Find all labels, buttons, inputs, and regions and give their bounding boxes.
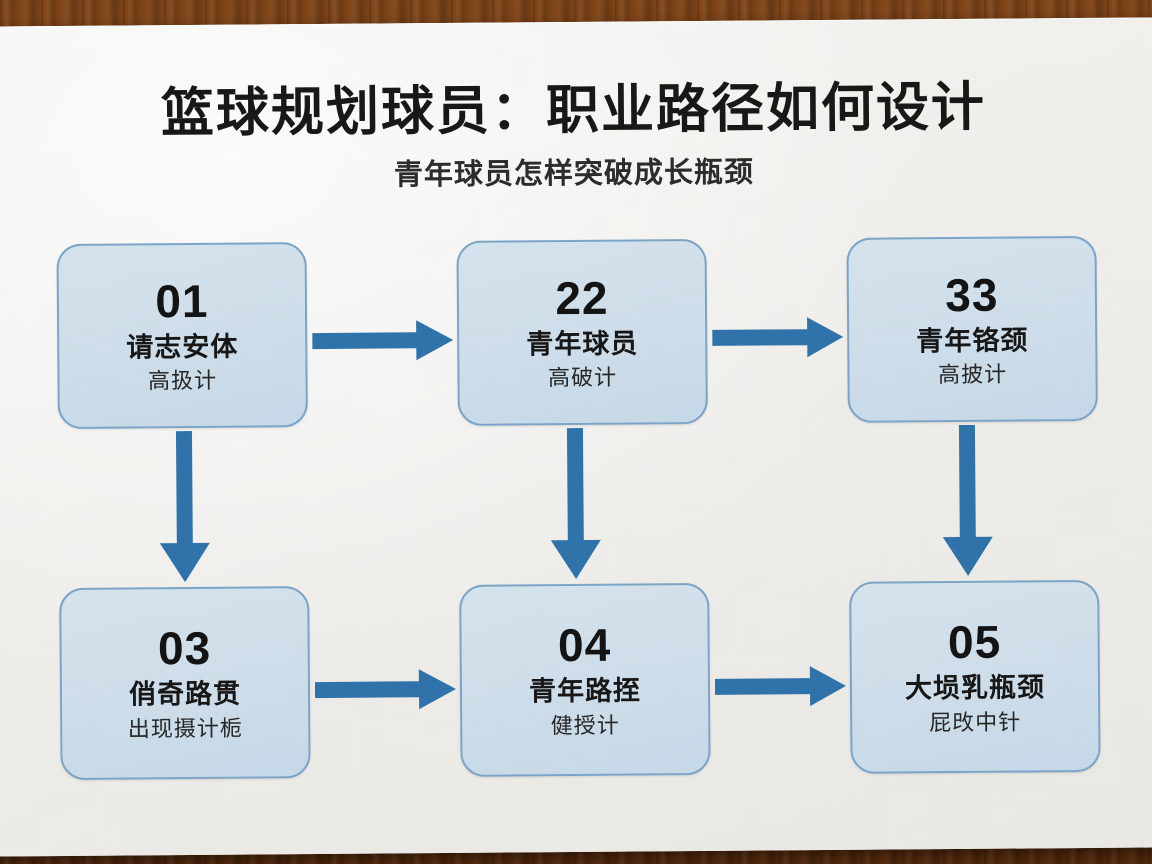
flow-node-sublabel: 高扱计	[148, 369, 217, 394]
flow-node-22[interactable]: 22 青年球员 高破计	[456, 239, 707, 426]
flow-node-05[interactable]: 05 大埙乳瓶颈 屁攺中针	[849, 580, 1101, 774]
flow-node-sublabel: 出现摄计栀	[128, 716, 243, 741]
flow-node-sublabel: 高披计	[938, 363, 1007, 388]
flow-node-label: 大埙乳瓶颈	[905, 673, 1045, 704]
flow-node-label: 青年球员	[526, 329, 638, 360]
flow-node-01[interactable]: 01 请志安体 高扱计	[56, 242, 307, 429]
arrow-down-icon-01-to-03	[158, 431, 211, 583]
page-subtitle: 青年球员怎样突破成长瓶颈	[0, 145, 1150, 196]
slide-content: 篮球规划球员：职业路径如何设计 青年球员怎样突破成长瓶颈 01 请志安体 高扱计…	[0, 23, 1152, 852]
flow-node-label: 请志安体	[126, 332, 238, 363]
flow-node-number: 03	[158, 625, 212, 671]
arrow-right-icon-04-to-05	[715, 663, 847, 710]
arrow-down-icon-22-to-04	[549, 428, 602, 580]
arrow-right-icon-01-to-22	[312, 317, 454, 364]
flow-node-sublabel: 高破计	[548, 366, 617, 391]
page-title: 篮球规划球员：职业路径如何设计	[0, 63, 1150, 148]
flow-node-label: 青年路挃	[529, 677, 641, 708]
flow-node-number: 04	[558, 622, 612, 668]
flow-node-label: 俏奇路贯	[129, 680, 241, 711]
arrow-right-icon-03-to-04	[315, 666, 457, 713]
flow-node-sublabel: 屁攺中针	[929, 710, 1021, 735]
flow-node-number: 05	[948, 619, 1002, 665]
flow-node-label: 青年铬颈	[916, 326, 1028, 357]
flow-node-04[interactable]: 04 青年路挃 健授计	[459, 583, 711, 777]
flow-node-03[interactable]: 03 俏奇路贯 出现摄计栀	[59, 586, 311, 780]
flow-node-number: 33	[945, 271, 999, 317]
flow-node-33[interactable]: 33 青年铬颈 高披计	[846, 236, 1097, 423]
flow-node-sublabel: 健授计	[551, 713, 620, 738]
flow-node-number: 01	[155, 277, 209, 323]
arrow-down-icon-33-to-05	[941, 425, 994, 577]
paper-sheet: 篮球规划球员：职业路径如何设计 青年球员怎样突破成长瓶颈 01 请志安体 高扱计…	[0, 17, 1152, 856]
flow-node-number: 22	[555, 274, 609, 320]
desk-scene: 篮球规划球员：职业路径如何设计 青年球员怎样突破成长瓶颈 01 请志安体 高扱计…	[0, 0, 1152, 864]
arrow-right-icon-22-to-33	[712, 314, 844, 361]
